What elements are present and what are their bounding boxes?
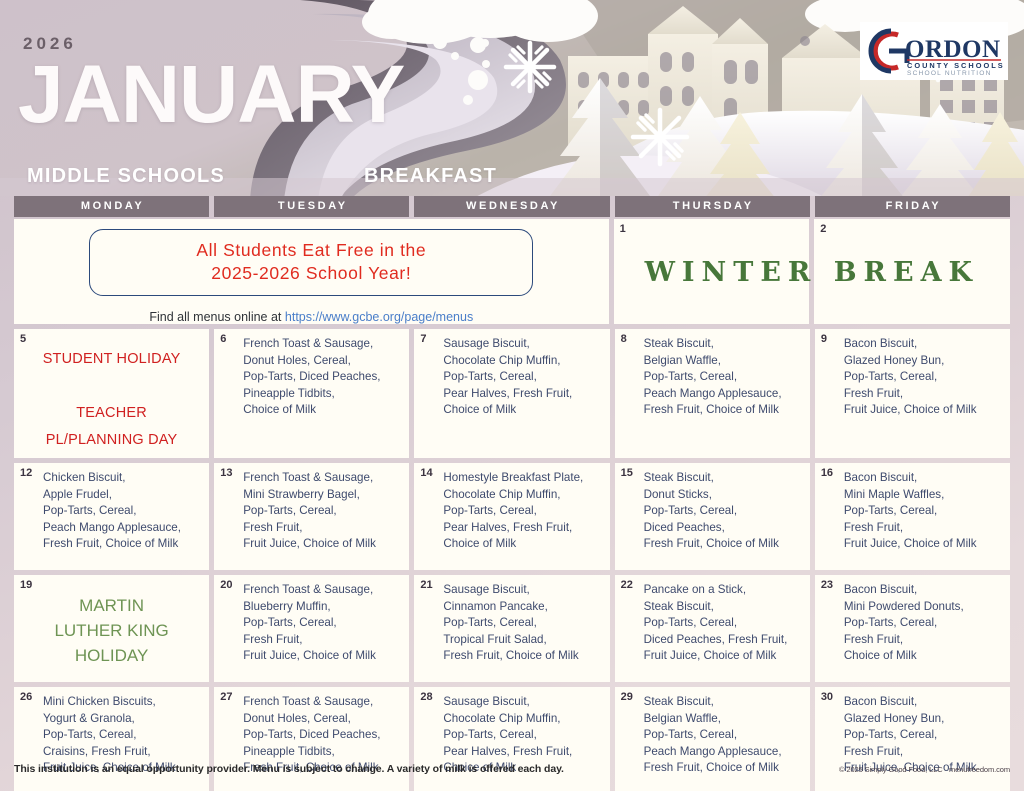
- menu-items: French Toast & Sausage, Blueberry Muffin…: [243, 582, 403, 665]
- menu-calendar-page: 2026 JANUARY MIDDLE SCHOOLS BREAKFAST OR…: [0, 0, 1024, 791]
- meal-type-label: BREAKFAST: [364, 165, 497, 188]
- calendar-cell-22[interactable]: 22 Pancake on a Stick, Steak Biscuit, Po…: [615, 575, 810, 682]
- day-number: 13: [220, 467, 232, 479]
- day-number: 22: [621, 579, 633, 591]
- copyright-text: © 2025 Simply Good Food, LLC · menufreed…: [839, 765, 1010, 774]
- find-menus-line: Find all menus online at https://www.gcb…: [149, 310, 473, 324]
- day-number: 5: [20, 333, 26, 345]
- calendar-cell-27[interactable]: 27 French Toast & Sausage, Donut Holes, …: [214, 687, 409, 791]
- menu-items: Sausage Biscuit, Chocolate Chip Muffin, …: [443, 336, 603, 419]
- menu-items: Chicken Biscuit, Apple Frudel, Pop-Tarts…: [43, 470, 203, 553]
- calendar-cell-12[interactable]: 12 Chicken Biscuit, Apple Frudel, Pop-Ta…: [14, 463, 209, 570]
- dow-tuesday: TUESDAY: [214, 196, 409, 217]
- calendar-cell-20[interactable]: 20 French Toast & Sausage, Blueberry Muf…: [214, 575, 409, 682]
- calendar-cell-7[interactable]: 7 Sausage Biscuit, Chocolate Chip Muffin…: [414, 329, 609, 458]
- footer: This institution is an equal opportunity…: [14, 763, 1010, 775]
- menu-items: French Toast & Sausage, Mini Strawberry …: [243, 470, 403, 553]
- svg-text:SCHOOL NUTRITION: SCHOOL NUTRITION: [907, 70, 992, 77]
- eat-free-promo-box: All Students Eat Free in the 2025-2026 S…: [89, 229, 533, 296]
- subtitle-row: MIDDLE SCHOOLS BREAKFAST: [27, 165, 497, 188]
- day-number: 14: [420, 467, 432, 479]
- promo-announcement-cell: All Students Eat Free in the 2025-2026 S…: [14, 219, 609, 324]
- menu-items: Pancake on a Stick, Steak Biscuit, Pop-T…: [644, 582, 804, 665]
- calendar-week-row-3: 12 Chicken Biscuit, Apple Frudel, Pop-Ta…: [14, 463, 1010, 570]
- day-number: 21: [420, 579, 432, 591]
- day-number: 16: [821, 467, 833, 479]
- day-number: 15: [621, 467, 633, 479]
- calendar-cell-16[interactable]: 16 Bacon Biscuit, Mini Maple Waffles, Po…: [815, 463, 1010, 570]
- menu-items: French Toast & Sausage, Donut Holes, Cer…: [243, 336, 403, 419]
- title-block: 2026 JANUARY: [18, 34, 404, 134]
- eat-free-promo-text: All Students Eat Free in the 2025-2026 S…: [100, 239, 522, 285]
- calendar-cell-1[interactable]: 1: [614, 219, 810, 324]
- menu-items: Bacon Biscuit, Mini Maple Waffles, Pop-T…: [844, 470, 1004, 553]
- calendar-cell-14[interactable]: 14 Homestyle Breakfast Plate, Chocolate …: [414, 463, 609, 570]
- day-of-week-header-row: MONDAY TUESDAY WEDNESDAY THURSDAY FRIDAY: [14, 196, 1010, 217]
- day-number: 28: [420, 691, 432, 703]
- svg-text:COUNTY SCHOOLS: COUNTY SCHOOLS: [907, 61, 1005, 70]
- calendar-cell-2[interactable]: 2: [814, 219, 1010, 324]
- calendar-cell-5[interactable]: 5 STUDENT HOLIDAY TEACHER PL/PLANNING DA…: [14, 329, 209, 458]
- calendar-cell-6[interactable]: 6 French Toast & Sausage, Donut Holes, C…: [214, 329, 409, 458]
- calendar-week-row-5: 26 Mini Chicken Biscuits, Yogurt & Grano…: [14, 687, 1010, 791]
- day-number: 26: [20, 691, 32, 703]
- day-number: 6: [220, 333, 226, 345]
- find-menus-prefix: Find all menus online at: [149, 310, 285, 324]
- calendar-grid: All Students Eat Free in the 2025-2026 S…: [14, 219, 1010, 791]
- day-number: 8: [621, 333, 627, 345]
- calendar-cell-8[interactable]: 8 Steak Biscuit, Belgian Waffle, Pop-Tar…: [615, 329, 810, 458]
- calendar-cell-9[interactable]: 9 Bacon Biscuit, Glazed Honey Bun, Pop-T…: [815, 329, 1010, 458]
- dow-monday: MONDAY: [14, 196, 209, 217]
- calendar-week-row-4: 19 MARTIN LUTHER KING HOLIDAY 20 French …: [14, 575, 1010, 682]
- calendar-cell-19[interactable]: 19 MARTIN LUTHER KING HOLIDAY: [14, 575, 209, 682]
- day-number: 7: [420, 333, 426, 345]
- calendar-week-row-2: 5 STUDENT HOLIDAY TEACHER PL/PLANNING DA…: [14, 329, 1010, 458]
- holiday-note: STUDENT HOLIDAY TEACHER PL/PLANNING DAY: [20, 346, 203, 454]
- menu-items: Bacon Biscuit, Mini Powdered Donuts, Pop…: [844, 582, 1004, 665]
- day-number: 9: [821, 333, 827, 345]
- day-number: 23: [821, 579, 833, 591]
- menu-items: Bacon Biscuit, Glazed Honey Bun, Pop-Tar…: [844, 336, 1004, 419]
- holiday-note: MARTIN LUTHER KING HOLIDAY: [20, 593, 203, 668]
- day-number: 1: [620, 223, 626, 235]
- day-number: 19: [20, 579, 32, 591]
- gordon-county-schools-logo: ORDON COUNTY SCHOOLS SCHOOL NUTRITION: [860, 22, 1008, 80]
- menu-items: Sausage Biscuit, Cinnamon Pancake, Pop-T…: [443, 582, 603, 665]
- menu-items: Homestyle Breakfast Plate, Chocolate Chi…: [443, 470, 603, 553]
- disclaimer-text: This institution is an equal opportunity…: [14, 763, 564, 775]
- calendar-cell-21[interactable]: 21 Sausage Biscuit, Cinnamon Pancake, Po…: [414, 575, 609, 682]
- month-title: JANUARY: [18, 56, 404, 134]
- calendar-week-row-1: All Students Eat Free in the 2025-2026 S…: [14, 219, 1010, 324]
- school-level-label: MIDDLE SCHOOLS: [27, 165, 225, 188]
- calendar-cell-13[interactable]: 13 French Toast & Sausage, Mini Strawber…: [214, 463, 409, 570]
- dow-friday: FRIDAY: [815, 196, 1010, 217]
- day-number: 12: [20, 467, 32, 479]
- day-number: 20: [220, 579, 232, 591]
- calendar-cell-30[interactable]: 30 Bacon Biscuit, Glazed Honey Bun, Pop-…: [815, 687, 1010, 791]
- day-number: 29: [621, 691, 633, 703]
- winter-break-banner: 1 2 WINTER BREAK: [614, 219, 1010, 324]
- day-number: 27: [220, 691, 232, 703]
- calendar-cell-23[interactable]: 23 Bacon Biscuit, Mini Powdered Donuts, …: [815, 575, 1010, 682]
- menu-items: Steak Biscuit, Donut Sticks, Pop-Tarts, …: [644, 470, 804, 553]
- calendar-cell-29[interactable]: 29 Steak Biscuit, Belgian Waffle, Pop-Ta…: [615, 687, 810, 791]
- dow-thursday: THURSDAY: [615, 196, 810, 217]
- svg-text:ORDON: ORDON: [905, 36, 1001, 63]
- calendar-cell-28[interactable]: 28 Sausage Biscuit, Chocolate Chip Muffi…: [414, 687, 609, 791]
- menu-items: Steak Biscuit, Belgian Waffle, Pop-Tarts…: [644, 336, 804, 419]
- calendar-cell-26[interactable]: 26 Mini Chicken Biscuits, Yogurt & Grano…: [14, 687, 209, 791]
- menus-url-link[interactable]: https://www.gcbe.org/page/menus: [285, 310, 473, 324]
- day-number: 30: [821, 691, 833, 703]
- dow-wednesday: WEDNESDAY: [414, 196, 609, 217]
- day-number: 2: [820, 223, 826, 235]
- calendar-cell-15[interactable]: 15 Steak Biscuit, Donut Sticks, Pop-Tart…: [615, 463, 810, 570]
